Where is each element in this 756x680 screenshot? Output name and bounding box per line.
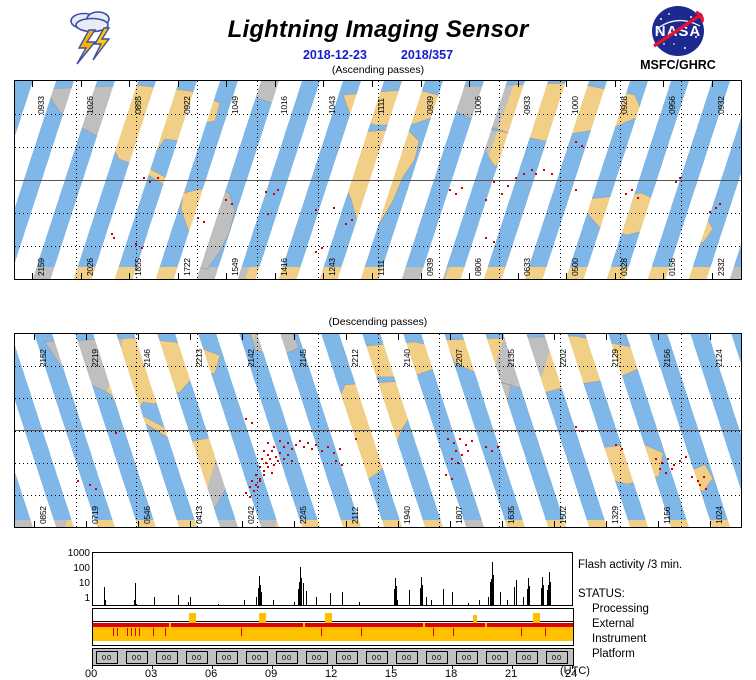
flash-point xyxy=(269,458,271,460)
ytick-1000: 1000 xyxy=(46,548,90,559)
flash-point xyxy=(321,450,323,452)
flash-point xyxy=(671,468,673,470)
flash-spike xyxy=(500,592,501,605)
orbit-tick xyxy=(518,80,519,87)
time-band-cell[interactable]: 00 xyxy=(336,651,358,664)
flash-point xyxy=(143,177,145,179)
flash-point xyxy=(271,450,273,452)
orbit-label: 0933 xyxy=(522,96,532,114)
flash-spike xyxy=(491,579,492,605)
bottom-panel: 1000 100 10 1 00000000000000000000000000… xyxy=(0,548,756,680)
flash-point xyxy=(303,446,305,448)
flash-point xyxy=(447,438,449,440)
orbit-tick xyxy=(178,273,179,280)
orbit-tick xyxy=(138,521,139,528)
time-band-cell[interactable]: 00 xyxy=(546,651,568,664)
orbit-label: 2207 xyxy=(454,349,464,367)
flash-spike xyxy=(529,586,530,605)
flash-point xyxy=(471,440,473,442)
orbit-label: 0939 xyxy=(425,258,435,276)
flash-point xyxy=(457,462,459,464)
status-red-tick xyxy=(321,628,322,636)
orbit-label: 0928 xyxy=(619,96,629,114)
flash-spike xyxy=(527,589,528,605)
flash-point xyxy=(453,442,455,444)
flash-point xyxy=(267,466,269,468)
flash-point xyxy=(445,474,447,476)
gridline-vertical xyxy=(318,81,319,279)
flash-point xyxy=(287,442,289,444)
flash-point xyxy=(515,177,517,179)
time-band-cell[interactable]: 00 xyxy=(516,651,538,664)
status-bands[interactable] xyxy=(92,608,574,646)
orbit-label: 2152 xyxy=(38,349,48,367)
orbit-label: 2146 xyxy=(142,349,152,367)
flash-point xyxy=(291,460,293,462)
orbit-label: 1940 xyxy=(402,506,412,524)
orbit-label: 0719 xyxy=(90,506,100,524)
orbit-label: 2140 xyxy=(402,349,412,367)
orbit-label: 1549 xyxy=(230,258,240,276)
flash-point xyxy=(665,472,667,474)
orbit-tick xyxy=(138,333,139,340)
flash-point xyxy=(95,488,97,490)
time-band-cell[interactable]: 00 xyxy=(216,651,238,664)
flash-point xyxy=(493,181,495,183)
orbit-tick xyxy=(86,333,87,340)
orbit-label: 0242 xyxy=(246,506,256,524)
time-band-cell[interactable]: 00 xyxy=(246,651,268,664)
flash-point xyxy=(149,181,151,183)
legend-status-processing: Processing xyxy=(578,602,756,617)
flash-spike xyxy=(452,592,453,605)
flash-point xyxy=(631,189,633,191)
gridline-vertical xyxy=(257,334,258,527)
flash-point xyxy=(283,446,285,448)
flash-point xyxy=(203,221,205,223)
flash-point xyxy=(315,444,317,446)
flash-point xyxy=(275,456,277,458)
orbit-label: 0546 xyxy=(142,506,152,524)
flash-spike xyxy=(431,600,432,605)
flash-point xyxy=(267,213,269,215)
orbit-label: 1722 xyxy=(182,258,192,276)
flash-point xyxy=(531,169,533,171)
flash-spike xyxy=(479,600,480,605)
flash-point xyxy=(449,189,451,191)
flash-point xyxy=(465,444,467,446)
orbit-tick xyxy=(32,80,33,87)
flash-point xyxy=(615,444,617,446)
orbit-label: 2135 xyxy=(506,349,516,367)
time-tick-label: 03 xyxy=(145,668,157,680)
flash-spike xyxy=(548,585,549,605)
flash-point xyxy=(251,480,253,482)
gridline-vertical xyxy=(197,81,198,279)
flash-point xyxy=(263,450,265,452)
orbit-label: 2219 xyxy=(90,349,100,367)
time-tick-label: 09 xyxy=(265,668,277,680)
flash-point xyxy=(251,422,253,424)
flash-point xyxy=(685,456,687,458)
orbit-time-band[interactable]: 00000000000000000000000000000000 xyxy=(92,648,574,666)
flash-point xyxy=(277,189,279,191)
flash-spike xyxy=(426,597,427,605)
flash-spike xyxy=(299,582,300,605)
flash-point xyxy=(257,486,259,488)
flash-point xyxy=(621,448,623,450)
map2-gridlines xyxy=(15,334,741,527)
flash-point xyxy=(455,193,457,195)
flash-point xyxy=(523,173,525,175)
descending-passes-map[interactable]: 2152221921462213214221452212214022072135… xyxy=(14,333,742,528)
flash-spike xyxy=(301,578,302,605)
flash-spike xyxy=(258,588,259,605)
orbit-tick xyxy=(502,521,503,528)
flash-point xyxy=(115,432,117,434)
flash-point xyxy=(659,468,661,470)
status-bump xyxy=(189,613,196,623)
time-band-cell[interactable]: 00 xyxy=(426,651,448,664)
flash-plot-yaxis: 1000 100 10 1 xyxy=(46,548,90,604)
flash-spike xyxy=(342,592,343,605)
flash-point xyxy=(295,444,297,446)
orbit-tick xyxy=(450,333,451,340)
flash-point xyxy=(581,145,583,147)
flash-spike xyxy=(294,602,295,605)
flash-spike xyxy=(523,597,524,605)
flash-point xyxy=(333,207,335,209)
gridline-vertical xyxy=(439,334,440,527)
flash-point xyxy=(691,476,693,478)
flash-point xyxy=(339,448,341,450)
gridline-vertical xyxy=(499,334,500,527)
flash-point xyxy=(315,209,317,211)
flash-spike xyxy=(543,585,544,605)
flash-point xyxy=(321,247,323,249)
orbit-label: 0855 xyxy=(133,96,143,114)
flash-point xyxy=(461,454,463,456)
orbit-label: 2124 xyxy=(714,349,724,367)
time-band-cell[interactable]: 00 xyxy=(396,651,418,664)
orbit-tick xyxy=(372,80,373,87)
flash-spike xyxy=(397,600,398,605)
time-band-cell[interactable]: 00 xyxy=(276,651,298,664)
status-red-tick xyxy=(139,628,140,636)
flash-point xyxy=(225,199,227,201)
gridline-vertical xyxy=(136,334,137,527)
flash-point xyxy=(89,484,91,486)
flash-point xyxy=(273,446,275,448)
time-band-cell[interactable]: 00 xyxy=(156,651,178,664)
orbit-tick xyxy=(86,521,87,528)
flash-point xyxy=(273,193,275,195)
flash-spike xyxy=(273,600,274,605)
flash-point xyxy=(271,472,273,474)
orbit-tick xyxy=(469,273,470,280)
status-bump xyxy=(473,615,477,623)
orbit-tick xyxy=(663,80,664,87)
orbit-tick xyxy=(606,333,607,340)
flash-point xyxy=(253,490,255,492)
status-divider xyxy=(93,621,573,622)
flash-point xyxy=(249,486,251,488)
flash-spike xyxy=(303,583,304,605)
gridline-vertical xyxy=(560,81,561,279)
orbit-tick xyxy=(606,521,607,528)
orbit-label: 2145 xyxy=(298,349,308,367)
orbit-label: 0933 xyxy=(36,96,46,114)
orbit-tick xyxy=(346,333,347,340)
flash-point xyxy=(263,470,265,472)
orbit-label: 0852 xyxy=(38,506,48,524)
orbit-tick xyxy=(615,80,616,87)
flash-spike xyxy=(514,587,515,605)
flash-point xyxy=(263,474,265,476)
status-bump xyxy=(325,613,332,623)
flash-spike xyxy=(330,593,331,605)
flash-point xyxy=(283,458,285,460)
flash-point xyxy=(507,185,509,187)
ytick-1: 1 xyxy=(46,593,90,604)
flash-spike xyxy=(516,580,517,605)
orbit-tick xyxy=(34,333,35,340)
orbit-label: 1502 xyxy=(558,506,568,524)
orbit-tick xyxy=(398,333,399,340)
orbit-label: 1243 xyxy=(327,258,337,276)
legend: Flash activity /3 min. STATUS: Processin… xyxy=(578,558,756,662)
flash-spike xyxy=(306,591,307,605)
flash-point xyxy=(625,193,627,195)
flash-point xyxy=(249,496,251,498)
gridline-vertical xyxy=(620,334,621,527)
orbit-label: 0633 xyxy=(522,258,532,276)
flash-point xyxy=(341,464,343,466)
flash-point xyxy=(655,458,657,460)
flash-spike xyxy=(135,583,136,605)
time-tick-label: 18 xyxy=(445,668,457,680)
flash-spike xyxy=(394,589,395,605)
orbit-tick xyxy=(294,333,295,340)
time-axis: 000306091215182124 xyxy=(92,665,572,679)
flash-spike xyxy=(105,600,106,605)
date-doy: 2018/357 xyxy=(401,48,453,62)
orbit-label: 0956 xyxy=(667,96,677,114)
flash-point xyxy=(705,488,707,490)
time-tick-label: 15 xyxy=(385,668,397,680)
flash-point xyxy=(461,187,463,189)
flash-spike xyxy=(136,604,137,605)
flash-point xyxy=(543,169,545,171)
flash-point xyxy=(575,141,577,143)
orbit-tick xyxy=(372,273,373,280)
flash-point xyxy=(291,448,293,450)
orbit-tick xyxy=(34,521,35,528)
flash-point xyxy=(575,426,577,428)
gridline-vertical xyxy=(681,334,682,527)
nasa-logo-block: NASA MSFC/GHRC xyxy=(620,4,736,76)
orbit-label: 1855 xyxy=(133,258,143,276)
orbit-tick xyxy=(421,273,422,280)
orbit-tick xyxy=(129,80,130,87)
flash-spike xyxy=(409,590,410,605)
legend-status-platform: Platform xyxy=(578,647,756,662)
orbit-tick xyxy=(32,273,33,280)
time-tick-label: 12 xyxy=(325,668,337,680)
gridline-vertical xyxy=(76,334,77,527)
time-band-cell[interactable]: 00 xyxy=(186,651,208,664)
flash-spike xyxy=(154,597,155,605)
flash-point xyxy=(141,247,143,249)
utc-unit-label: (UTC) xyxy=(560,665,590,677)
orbit-tick xyxy=(663,273,664,280)
flash-point xyxy=(679,460,681,462)
orbit-tick xyxy=(554,521,555,528)
ytick-10: 10 xyxy=(46,578,90,589)
flash-spike xyxy=(178,595,179,605)
orbit-tick xyxy=(129,273,130,280)
flash-point xyxy=(197,217,199,219)
status-bump xyxy=(259,613,266,623)
flash-point xyxy=(245,492,247,494)
status-yellow-tick xyxy=(303,623,305,628)
orbit-label: 0156 xyxy=(667,258,677,276)
orbit-tick xyxy=(81,273,82,280)
flash-point xyxy=(277,460,279,462)
flash-spike xyxy=(468,603,469,605)
orbit-tick xyxy=(275,80,276,87)
orbit-label: 1156 xyxy=(662,507,672,524)
orbit-tick xyxy=(294,521,295,528)
flash-point xyxy=(679,177,681,179)
page-header: Lightning Imaging Sensor 2018-12-232018/… xyxy=(0,0,756,78)
gridline-vertical xyxy=(681,81,682,279)
status-red-tick xyxy=(135,628,136,636)
orbit-label: 1635 xyxy=(506,506,516,524)
flash-point xyxy=(485,237,487,239)
flash-spike xyxy=(550,582,551,605)
orbit-label: 1006 xyxy=(473,96,483,114)
flash-point xyxy=(157,177,159,179)
time-band-cell[interactable]: 00 xyxy=(306,651,328,664)
flash-point xyxy=(493,241,495,243)
orbit-label: 1026 xyxy=(85,96,95,114)
orbit-label: 2202 xyxy=(558,349,568,367)
orbit-label: 0328 xyxy=(619,258,629,276)
flash-point xyxy=(459,438,461,440)
orbit-label: 1111 xyxy=(376,260,386,276)
ascending-passes-map[interactable]: 0933102608550922104910161043111109391006… xyxy=(14,80,742,280)
map2-canvas xyxy=(14,333,742,528)
flash-point xyxy=(113,237,115,239)
flash-point xyxy=(333,452,335,454)
flash-point xyxy=(715,207,717,209)
time-band-cell[interactable]: 00 xyxy=(126,651,148,664)
flash-point xyxy=(307,442,309,444)
orbit-label: 1000 xyxy=(570,96,580,114)
status-red-tick xyxy=(433,628,434,636)
flash-point xyxy=(267,442,269,444)
orbit-label: 1043 xyxy=(327,96,337,114)
nasa-meatball-logo: NASA xyxy=(644,4,712,60)
orbit-label: 0939 xyxy=(425,96,435,114)
flash-point xyxy=(575,189,577,191)
orbit-tick xyxy=(710,521,711,528)
status-red-tick xyxy=(521,628,522,636)
flash-spike xyxy=(190,597,191,605)
flash-spike xyxy=(443,589,444,605)
orbit-tick xyxy=(323,273,324,280)
nasa-caption: MSFC/GHRC xyxy=(620,58,736,72)
flash-point xyxy=(451,478,453,480)
status-red-tick xyxy=(453,628,454,636)
ytick-100: 100 xyxy=(46,563,90,574)
time-band-cell[interactable]: 00 xyxy=(456,651,478,664)
orbit-tick xyxy=(190,333,191,340)
flash-point xyxy=(703,476,705,478)
flash-spike xyxy=(261,592,262,605)
flash-point xyxy=(551,173,553,175)
flash-point xyxy=(327,446,329,448)
orbit-label: 2332 xyxy=(716,258,726,276)
time-band-cell[interactable]: 00 xyxy=(96,651,118,664)
flash-activity-plot-left[interactable] xyxy=(92,552,382,606)
flash-spike xyxy=(256,597,257,605)
status-red-tick xyxy=(153,628,154,636)
gridline-vertical xyxy=(439,81,440,279)
flash-activity-plot-right[interactable] xyxy=(380,552,573,606)
orbit-label: 0500 xyxy=(570,258,580,276)
orbit-label: 1111 xyxy=(376,98,386,114)
time-band-cell[interactable]: 00 xyxy=(366,651,388,664)
flash-spike xyxy=(541,588,542,605)
status-yellow-tick xyxy=(169,623,171,628)
flash-point xyxy=(265,191,267,193)
flash-point xyxy=(355,438,357,440)
orbit-tick xyxy=(190,521,191,528)
flash-point xyxy=(675,181,677,183)
gridline-vertical xyxy=(257,81,258,279)
flash-point xyxy=(299,440,301,442)
orbit-tick xyxy=(566,80,567,87)
orbit-tick xyxy=(554,333,555,340)
flash-point xyxy=(497,446,499,448)
flash-point xyxy=(451,458,453,460)
orbit-label: 0922 xyxy=(182,96,192,114)
gridline-vertical xyxy=(318,334,319,527)
time-band-cell[interactable]: 00 xyxy=(486,651,508,664)
flash-point xyxy=(265,462,267,464)
orbit-tick xyxy=(518,273,519,280)
flash-point xyxy=(335,460,337,462)
flash-spike xyxy=(188,602,189,605)
flash-point xyxy=(485,199,487,201)
orbit-tick xyxy=(398,521,399,528)
orbit-tick xyxy=(242,333,243,340)
orbit-label: 0413 xyxy=(194,506,204,524)
flash-point xyxy=(279,452,281,454)
orbit-tick xyxy=(81,80,82,87)
orbit-tick xyxy=(450,521,451,528)
flash-point xyxy=(501,193,503,195)
legend-status-external: External xyxy=(578,617,756,632)
date-iso: 2018-12-23 xyxy=(303,48,367,62)
orbit-label: 1807 xyxy=(454,506,464,524)
flash-point xyxy=(535,173,537,175)
orbit-label: 1416 xyxy=(279,258,289,276)
flash-point xyxy=(667,458,669,460)
status-red-tick xyxy=(165,628,166,636)
